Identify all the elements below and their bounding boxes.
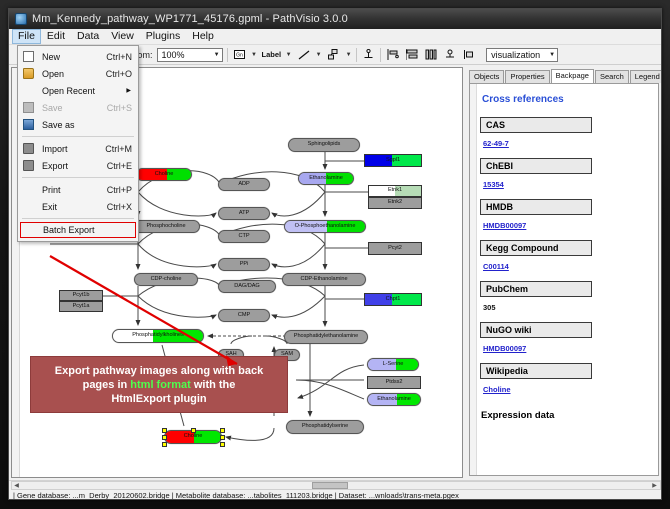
- backpage-content: Cross references CAS62-49-7ChEBI15354HMD…: [478, 88, 659, 421]
- save-icon: [23, 102, 34, 113]
- xref-name: NuGO wiki: [480, 322, 592, 338]
- svg-text:Gn: Gn: [236, 53, 243, 59]
- menu-item-shortcut: Ctrl+M: [105, 144, 132, 154]
- menu-item-label: Save: [42, 103, 63, 113]
- node-label: ADP: [238, 182, 249, 188]
- scroll-right-icon[interactable]: ▶: [650, 482, 659, 489]
- anchor-icon[interactable]: [361, 47, 376, 62]
- menu-item-label: Batch Export: [43, 225, 95, 235]
- pathvisio-window: Mm_Kennedy_pathway_WP1771_45176.gpml - P…: [8, 8, 662, 500]
- pathway-node-phosphatidylser[interactable]: Phosphatidylserine: [286, 420, 364, 434]
- menu-separator: [22, 177, 134, 178]
- xref-link[interactable]: C00114: [483, 262, 509, 271]
- scrollbar-thumb[interactable]: [312, 482, 348, 489]
- callout-highlight: html format: [130, 379, 191, 391]
- node-label: L-Serine: [383, 362, 404, 368]
- xref-name: PubChem: [480, 281, 592, 297]
- selection-handle[interactable]: [162, 442, 167, 447]
- node-label: Sphingolipids: [308, 142, 341, 148]
- visualization-combo[interactable]: visualization ▼: [486, 48, 558, 62]
- status-text: | Gene database: ...m_Derby_20120602.bri…: [13, 491, 459, 500]
- save-as-icon: [23, 119, 34, 130]
- node-label: Etnk2: [388, 200, 402, 206]
- pathvisio-icon: [15, 13, 27, 25]
- callout-line3: HtmlExport plugin: [111, 393, 206, 405]
- tab-properties[interactable]: Properties: [505, 70, 549, 83]
- desktop-backdrop: Mm_Kennedy_pathway_WP1771_45176.gpml - P…: [0, 0, 670, 509]
- pathway-node-sphingolipids[interactable]: Sphingolipids: [288, 138, 360, 152]
- menu-item-label: Exit: [42, 202, 57, 212]
- node-label: ATP: [239, 211, 249, 217]
- pathway-node-ptdss2[interactable]: Ptdss2: [367, 376, 421, 389]
- zoom-value: 100%: [162, 50, 185, 60]
- node-label: Phosphatidylserine: [302, 424, 348, 430]
- pathway-node-choline-top[interactable]: Choline: [136, 168, 192, 181]
- tab-objects[interactable]: Objects: [469, 70, 504, 83]
- cross-reference-entry: NuGO wikiHMDB00097: [478, 322, 659, 363]
- chevron-down-icon: ▼: [549, 52, 555, 58]
- tab-legend[interactable]: Legend: [630, 70, 662, 83]
- menu-edit[interactable]: Edit: [41, 29, 71, 44]
- menu-plugins[interactable]: Plugins: [140, 29, 186, 44]
- scroll-left-icon[interactable]: ◀: [12, 482, 21, 489]
- menu-view[interactable]: View: [105, 29, 140, 44]
- visualization-value: visualization: [491, 50, 540, 60]
- status-bar: ◀ ▶ | Gene database: ...m_Derby_20120602…: [9, 480, 662, 500]
- node-label: Phosphatidylkholines: [132, 333, 184, 339]
- cross-reference-entry: Kegg CompoundC00114: [478, 240, 659, 281]
- cross-references-heading: Cross references: [482, 94, 659, 105]
- node-label: Pcyt1b: [73, 293, 90, 299]
- pathway-node-o-phospho-eth[interactable]: O-Phosphoethanolamine: [284, 220, 366, 233]
- node-label: CDP-choline: [151, 277, 182, 283]
- node-label: Etnk1: [388, 188, 402, 194]
- file-menu-item-new[interactable]: NewCtrl+N: [18, 48, 138, 65]
- menu-item-label: Import: [42, 144, 68, 154]
- file-menu-item-save-as[interactable]: Save as: [18, 116, 138, 133]
- open-folder-icon: [23, 68, 34, 79]
- xref-name: CAS: [480, 117, 592, 133]
- menu-item-label: New: [42, 52, 60, 62]
- align-left-icon[interactable]: [385, 47, 400, 62]
- selection-handle[interactable]: [220, 442, 225, 447]
- file-menu-item-import[interactable]: ImportCtrl+M: [18, 140, 138, 157]
- interaction-icon[interactable]: [326, 47, 341, 62]
- selection-handle[interactable]: [220, 435, 225, 440]
- menu-item-shortcut: Ctrl+S: [107, 103, 132, 113]
- pathway-node-cmp[interactable]: CMP: [218, 309, 270, 322]
- node-label: Choline: [184, 434, 203, 440]
- menu-item-shortcut: Ctrl+P: [107, 185, 132, 195]
- menu-separator: [22, 218, 134, 219]
- menu-item-shortcut: Ctrl+X: [107, 202, 132, 212]
- order-icon[interactable]: [461, 47, 476, 62]
- file-menu-item-exit[interactable]: ExitCtrl+X: [18, 198, 138, 215]
- xref-value: 305: [483, 303, 496, 312]
- selection-handle[interactable]: [162, 435, 167, 440]
- zoom-combo[interactable]: 100% ▼: [157, 48, 223, 62]
- pathway-node-adp[interactable]: ADP: [218, 178, 270, 191]
- cross-reference-entry: WikipediaCholine: [478, 363, 659, 404]
- backpage-scroll-gutter[interactable]: [470, 84, 477, 475]
- backpage-panel: Cross references CAS62-49-7ChEBI15354HMD…: [469, 83, 659, 476]
- callout-line2-a: pages in: [83, 379, 131, 391]
- chevron-down-icon[interactable]: ▼: [285, 52, 292, 58]
- cross-reference-entry: ChEBI15354: [478, 158, 659, 199]
- chevron-down-icon[interactable]: ▼: [315, 52, 322, 58]
- title-bar: Mm_Kennedy_pathway_WP1771_45176.gpml - P…: [9, 9, 662, 29]
- export-icon: [23, 160, 34, 171]
- toolbar-separator: [227, 48, 228, 62]
- cross-reference-entry: PubChem305: [478, 281, 659, 322]
- file-menu-item-open[interactable]: OpenCtrl+O: [18, 65, 138, 82]
- expression-data-heading: Expression data: [481, 410, 659, 421]
- node-label: Pcyt2: [388, 246, 402, 252]
- pathway-node-l-serine[interactable]: L-Serine: [367, 358, 419, 371]
- file-menu-dropdown[interactable]: NewCtrl+NOpenCtrl+OOpen Recent▶SaveCtrl+…: [17, 45, 139, 242]
- chevron-down-icon[interactable]: ▼: [251, 52, 258, 58]
- selection-handle[interactable]: [220, 428, 225, 433]
- node-label: SAM: [281, 352, 293, 358]
- pathway-node-ppi[interactable]: PPi: [218, 258, 270, 271]
- menu-item-shortcut: Ctrl+O: [106, 69, 132, 79]
- pathway-node-etnk2[interactable]: Etnk2: [368, 197, 422, 209]
- menu-item-shortcut: Ctrl+E: [107, 161, 132, 171]
- xref-link[interactable]: 15354: [483, 180, 504, 189]
- pathway-node-pcyt2[interactable]: Pcyt2: [368, 242, 422, 255]
- xref-link[interactable]: HMDB00097: [483, 221, 526, 230]
- callout-line2-b: with the: [191, 379, 236, 391]
- stack-icon[interactable]: [442, 47, 457, 62]
- callout-text: Export pathway images along with back pa…: [55, 364, 263, 406]
- tab-search[interactable]: Search: [595, 70, 629, 83]
- node-label: Ptdss2: [386, 380, 403, 386]
- window-title: Mm_Kennedy_pathway_WP1771_45176.gpml - P…: [32, 13, 348, 25]
- tab-backpage[interactable]: Backpage: [551, 69, 594, 83]
- xref-name: Kegg Compound: [480, 240, 592, 256]
- align-center-icon[interactable]: [404, 47, 419, 62]
- cross-reference-entry: CAS62-49-7: [478, 117, 659, 158]
- pathway-node-ethanolamine[interactable]: Ethanolamine: [298, 172, 354, 185]
- node-label: SAH: [225, 352, 236, 358]
- node-label: Pcyt1a: [73, 304, 90, 310]
- node-label: Phosphocholine: [146, 224, 185, 230]
- node-label: CDP-Ethanolamine: [300, 277, 347, 283]
- new-document-icon: [23, 51, 34, 62]
- xref-link[interactable]: Choline: [483, 385, 511, 394]
- menu-item-label: Save as: [42, 120, 75, 130]
- pathway-node-etnk1[interactable]: Etnk1: [368, 185, 422, 197]
- menu-file[interactable]: File: [12, 29, 41, 44]
- node-label: Sgpl1: [386, 158, 400, 164]
- xref-link[interactable]: HMDB00097: [483, 344, 526, 353]
- label-button[interactable]: Label: [262, 50, 282, 59]
- pathway-node-dag-dag[interactable]: DAG/DAG: [218, 280, 276, 293]
- menu-data[interactable]: Data: [71, 29, 105, 44]
- pathway-node-chpt1[interactable]: Chpt1: [364, 293, 422, 306]
- pathway-node-cdp-choline[interactable]: CDP-choline: [134, 273, 198, 286]
- menu-item-label: Open: [42, 69, 64, 79]
- pathway-node-ctp[interactable]: CTP: [218, 230, 270, 243]
- node-label: Choline: [155, 172, 174, 178]
- cross-reference-entry: HMDBHMDB00097: [478, 199, 659, 240]
- pathway-node-pcyt1a[interactable]: Pcyt1a: [59, 301, 103, 312]
- selection-handle[interactable]: [191, 428, 196, 433]
- datanode-icon[interactable]: Gn: [232, 47, 247, 62]
- file-menu-item-print[interactable]: PrintCtrl+P: [18, 181, 138, 198]
- xref-name: ChEBI: [480, 158, 592, 174]
- menu-item-label: Open Recent: [42, 86, 95, 96]
- import-icon: [23, 143, 34, 154]
- node-label: CMP: [238, 313, 250, 319]
- file-menu-item-open-recent[interactable]: Open Recent▶: [18, 82, 138, 99]
- pathway-node-phosphatidyleth[interactable]: Phosphatidylethanolamine: [284, 330, 368, 344]
- menu-bar: File Edit Data View Plugins Help: [9, 29, 662, 45]
- pathway-node-phosphocholine[interactable]: Phosphocholine: [132, 220, 200, 233]
- xref-name: Wikipedia: [480, 363, 592, 379]
- menu-item-label: Print: [42, 185, 61, 195]
- selection-handle[interactable]: [162, 428, 167, 433]
- toolbar-separator: [380, 48, 381, 62]
- horizontal-scrollbar[interactable]: ◀ ▶: [11, 481, 661, 490]
- distribute-icon[interactable]: [423, 47, 438, 62]
- pathway-node-atp[interactable]: ATP: [218, 207, 270, 220]
- callout-line1: Export pathway images along with back: [55, 365, 263, 377]
- menu-item-shortcut: Ctrl+N: [106, 52, 132, 62]
- file-menu-item-export[interactable]: ExportCtrl+E: [18, 157, 138, 174]
- node-label: O-Phosphoethanolamine: [295, 224, 356, 230]
- pathway-node-sgpl1[interactable]: Sgpl1: [364, 154, 422, 167]
- menu-help[interactable]: Help: [186, 29, 220, 44]
- side-panel: Objects Properties Backpage Search Legen…: [465, 67, 661, 478]
- file-menu-item-save: SaveCtrl+S: [18, 99, 138, 116]
- xref-link[interactable]: 62-49-7: [483, 139, 509, 148]
- line-icon[interactable]: [296, 47, 311, 62]
- node-label: DAG/DAG: [234, 284, 259, 290]
- pathway-node-phosphatidylch[interactable]: Phosphatidylkholines: [112, 329, 204, 343]
- xref-name: HMDB: [480, 199, 592, 215]
- annotation-callout: Export pathway images along with back pa…: [30, 356, 288, 413]
- menu-separator: [22, 136, 134, 137]
- node-label: Ethanolamine: [309, 176, 343, 182]
- chevron-down-icon: ▼: [214, 52, 220, 58]
- pathway-node-cdp-ethanol[interactable]: CDP-Ethanolamine: [282, 273, 366, 286]
- menu-item-label: Export: [42, 161, 68, 171]
- cross-reference-list: CAS62-49-7ChEBI15354HMDBHMDB00097Kegg Co…: [478, 117, 659, 404]
- file-menu-item-batch-export[interactable]: Batch Export: [20, 222, 136, 238]
- chevron-down-icon[interactable]: ▼: [345, 52, 352, 58]
- toolbar-separator: [356, 48, 357, 62]
- node-label: Phosphatidylethanolamine: [294, 334, 358, 340]
- node-label: PPi: [240, 262, 249, 268]
- node-label: Chpt1: [386, 297, 401, 303]
- pathway-node-pcyt1b[interactable]: Pcyt1b: [59, 290, 103, 301]
- node-label: Ethanolamine: [377, 397, 411, 403]
- side-panel-tabs: Objects Properties Backpage Search Legen…: [469, 69, 659, 83]
- chevron-right-icon: ▶: [126, 87, 131, 94]
- pathway-node-ethanolamine-2[interactable]: Ethanolamine: [367, 393, 421, 406]
- node-label: CTP: [238, 234, 249, 240]
